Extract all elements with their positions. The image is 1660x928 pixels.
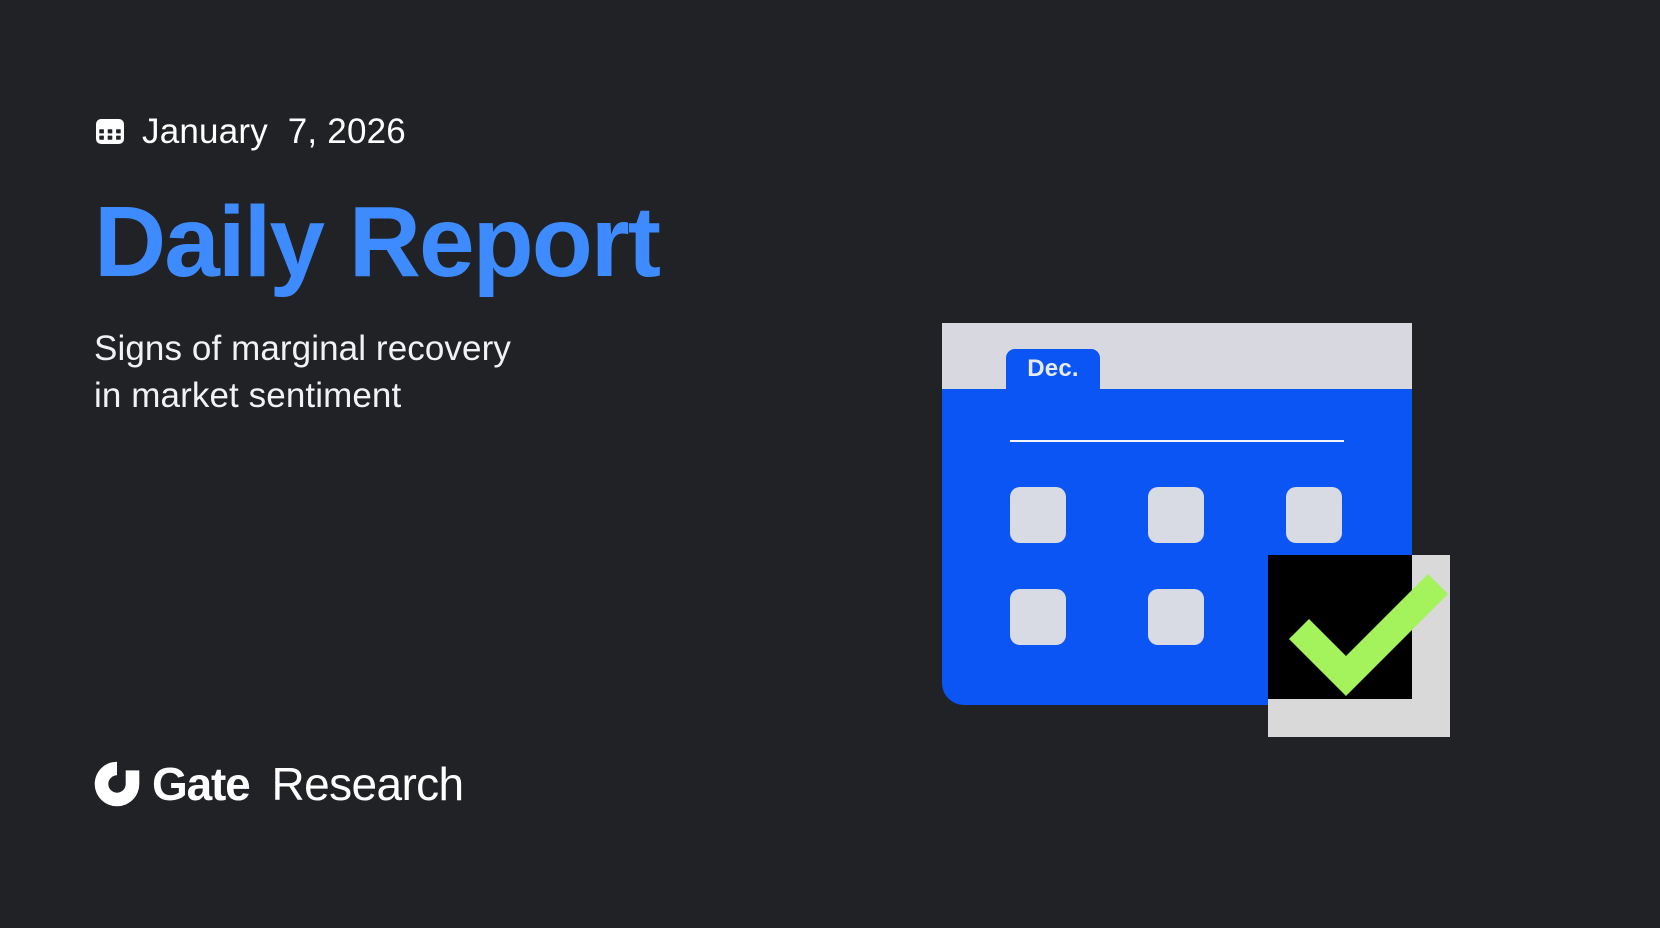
gate-research-logo: Gate Research — [94, 758, 464, 810]
page-title: Daily Report — [94, 186, 659, 298]
check-badge-square — [1268, 555, 1412, 699]
calendar-divider — [1010, 440, 1344, 442]
calendar-cell — [1010, 589, 1066, 645]
report-subtitle: Signs of marginal recovery in market sen… — [94, 325, 511, 419]
calendar-cell — [1148, 487, 1204, 543]
calendar-illustration: Dec. — [942, 323, 1412, 705]
report-cover: January 7, 2026 Daily Report Signs of ma… — [0, 0, 1660, 928]
subtitle-line-2: in market sentiment — [94, 372, 511, 419]
calendar-month-label: Dec. — [1027, 357, 1079, 381]
calendar-cell — [1148, 589, 1204, 645]
gate-logo-icon — [94, 761, 140, 807]
calendar-cell — [1010, 487, 1066, 543]
date-row: January 7, 2026 — [94, 108, 406, 154]
calendar-icon — [94, 115, 126, 147]
calendar-month-tab: Dec. — [1006, 349, 1100, 389]
report-date: January 7, 2026 — [142, 114, 406, 149]
calendar-cell — [1286, 487, 1342, 543]
subtitle-line-1: Signs of marginal recovery — [94, 325, 511, 372]
logo-brand-text: Gate — [152, 761, 249, 807]
logo-product-text: Research — [271, 761, 463, 807]
left-content-column: January 7, 2026 Daily Report Signs of ma… — [94, 0, 854, 928]
